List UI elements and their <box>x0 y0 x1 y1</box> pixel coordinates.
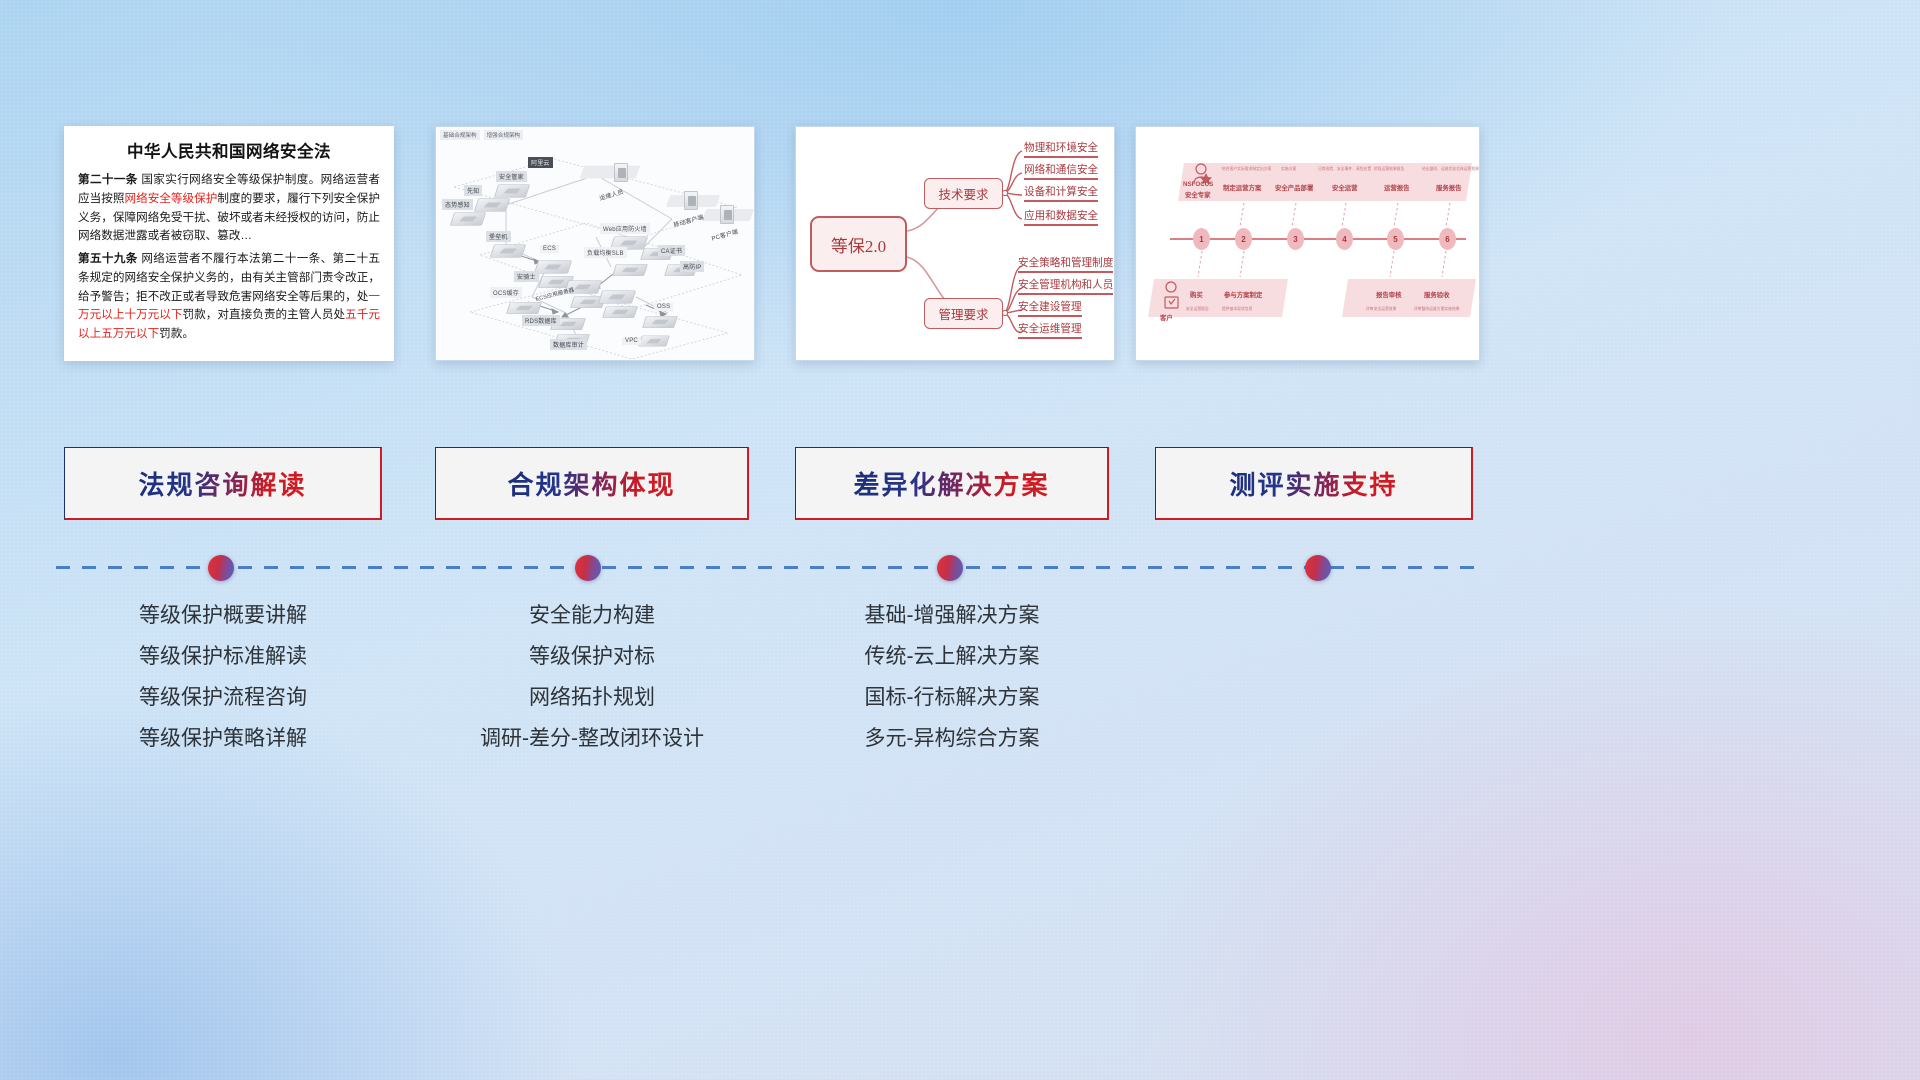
roadmap-top-title-2: 安全产品部署 <box>1275 183 1313 192</box>
architecture-diagram: 基础合规架构 增强合规架构 阿里云 安全管家 先知 态势感知 运维人员 移动客户… <box>436 127 754 360</box>
roadmap-top-sub-4: 阶段运营效果报告 <box>1374 167 1404 172</box>
roadmap-bottom-title-3: 报告审核 <box>1376 290 1402 299</box>
article-59-label: 第五十九条 <box>78 252 138 265</box>
roadmap-bottom-title-4: 服务验收 <box>1424 290 1450 299</box>
reference-cards-row: 中华人民共和国网络安全法 第二十一条 国家实行网络安全等级保护制度。网络运营者应… <box>0 126 1920 361</box>
list-item: 基础-增强解决方案 <box>790 605 1114 626</box>
section-items-column-3: 基础-增强解决方案 传统-云上解决方案 国标-行标解决方案 多元-异构综合方案 <box>790 605 1114 769</box>
roadmap-lines <box>1136 127 1480 361</box>
dengbao-mind-map: 等保2.0 技术要求 物理和环境安全 网络和通信安全 设备和计算安全 应用和数据… <box>796 127 1114 360</box>
section-title-box-4[interactable]: 测评实施支持 <box>1155 447 1473 520</box>
article-21-label: 第二十一条 <box>78 173 138 186</box>
node-pc-client <box>720 205 734 224</box>
mind-leaf-physical-env: 物理和环境安全 <box>1024 140 1098 158</box>
node-label-situational-awareness: 态势感知 <box>442 199 473 210</box>
node-situational-awareness <box>452 207 484 231</box>
node-label-ca-cert: CA证书 <box>658 245 685 256</box>
node-mobile-client <box>684 191 698 210</box>
section-items-column-2: 安全能力构建 等级保护对标 网络拓扑规划 调研-差分-整改闭环设计 <box>420 605 764 769</box>
roadmap-step-number-2: 2 <box>1235 228 1252 250</box>
node-label-aliyun: 阿里云 <box>528 157 553 168</box>
list-item: 等级保护流程咨询 <box>64 687 382 708</box>
mind-leaf-org-personnel: 安全管理机构和人员 <box>1018 277 1113 295</box>
node-bastion-host <box>492 239 524 263</box>
list-item: 等级保护标准解读 <box>64 646 382 667</box>
roadmap-step-number-4: 4 <box>1336 228 1353 250</box>
node-ops-staff <box>614 163 628 182</box>
law-card-title: 中华人民共和国网络安全法 <box>78 138 380 162</box>
node-label-slb: 负载均衡SLB <box>584 247 627 258</box>
cloud-architecture-card: 基础合规架构 增强合规架构 阿里云 安全管家 先知 态势感知 运维人员 移动客户… <box>435 126 755 361</box>
list-item: 等级保护策略详解 <box>64 728 382 749</box>
node-label-waf: Web应用防火墙 <box>600 223 650 234</box>
mind-leaf-ops-mgmt: 安全运维管理 <box>1018 321 1082 339</box>
node-slb <box>614 259 646 281</box>
section-title-label-4: 测评实施支持 <box>1229 465 1397 502</box>
article-21-highlight: 网络安全等级保护 <box>124 192 217 205</box>
timeline-dot-2[interactable] <box>575 555 601 581</box>
service-roadmap: NSFOCUS 安全专家 客户 结合客户实际需求制定出方案 制定运营方案 实施方… <box>1136 127 1479 360</box>
roadmap-top-title-5: 服务报告 <box>1436 183 1462 192</box>
law-article-21: 第二十一条 国家实行网络安全等级保护制度。网络运营者应当按照网络安全等级保护制度… <box>78 171 380 246</box>
mind-leaf-construction-mgmt: 安全建设管理 <box>1018 299 1082 317</box>
list-item: 网络拓扑规划 <box>420 687 764 708</box>
roadmap-top-sub-5: 给出整改、运维优化总体运营效果 <box>1422 167 1479 172</box>
roadmap-step-number-5: 5 <box>1387 228 1404 250</box>
arch-tab-basic[interactable]: 基础合规架构 <box>440 130 480 140</box>
article-59-text-b: 罚款，对直接负责的主管人员处 <box>183 308 346 321</box>
roadmap-top-actor-line2: 安全专家 <box>1185 190 1211 199</box>
roadmap-bottom-sub-4: 评审整改运维方案实施效果 <box>1414 307 1460 312</box>
section-titles-row: 法规咨询解读 合规架构体现 差异化解决方案 测评实施支持 <box>0 447 1920 520</box>
timeline-dot-4[interactable] <box>1305 555 1331 581</box>
node-label-anqishi: 安骑士 <box>514 271 539 282</box>
roadmap-top-actor-line1: NSFOCUS <box>1183 181 1213 188</box>
mind-map-card: 等保2.0 技术要求 物理和环境安全 网络和通信安全 设备和计算安全 应用和数据… <box>795 126 1115 361</box>
timeline-dot-3[interactable] <box>937 555 963 581</box>
mind-branch-technical: 技术要求 <box>924 178 1003 209</box>
mind-leaf-device-compute: 设备和计算安全 <box>1024 184 1098 202</box>
roadmap-top-title-1: 制定运营方案 <box>1223 183 1261 192</box>
roadmap-bottom-sub-3: 评审安全运营效果 <box>1366 307 1396 312</box>
list-item: 多元-异构综合方案 <box>790 728 1114 749</box>
list-item: 调研-差分-整改闭环设计 <box>420 728 764 749</box>
node-app-server-4 <box>604 301 636 323</box>
timeline-rail <box>56 566 1480 569</box>
roadmap-bottom-actor: 客户 <box>1160 313 1173 322</box>
node-oss <box>644 311 676 333</box>
roadmap-step-number-1: 1 <box>1193 228 1210 250</box>
mind-leaf-policy-system: 安全策略和管理制度 <box>1018 255 1113 273</box>
section-title-box-2[interactable]: 合规架构体现 <box>435 447 749 520</box>
roadmap-top-sub-2: 实施方案 <box>1281 167 1296 172</box>
roadmap-step-number-3: 3 <box>1287 228 1304 250</box>
node-label-vpc: VPC <box>622 337 641 345</box>
node-label-ecs: ECS <box>540 245 559 253</box>
roadmap-bottom-sub-2: 提供基本现状信息 <box>1222 307 1252 312</box>
architecture-connectors <box>436 127 755 361</box>
list-item: 国标-行标解决方案 <box>790 687 1114 708</box>
roadmap-top-sub-1: 结合客户实际需求制定出方案 <box>1222 167 1271 172</box>
mind-branch-management: 管理要求 <box>924 298 1003 329</box>
node-label-anti-ddos-ip: 高防IP <box>680 261 704 272</box>
mind-root-node: 等保2.0 <box>810 216 907 272</box>
node-label-xianzhi: 先知 <box>464 185 482 196</box>
node-label-security-steward: 安全管家 <box>496 171 527 182</box>
roadmap-bottom-title-2: 参与方案制定 <box>1224 290 1262 299</box>
list-item: 等级保护概要讲解 <box>64 605 382 626</box>
list-item: 等级保护对标 <box>420 646 764 667</box>
article-59-text-c: 罚款。 <box>159 327 194 340</box>
roadmap-top-title-3: 安全运营 <box>1332 183 1358 192</box>
list-item: 安全能力构建 <box>420 605 764 626</box>
section-title-label-1: 法规咨询解读 <box>138 465 306 502</box>
section-title-label-3: 差异化解决方案 <box>853 465 1049 502</box>
list-item: 传统-云上解决方案 <box>790 646 1114 667</box>
architecture-tabs[interactable]: 基础合规架构 增强合规架构 <box>440 130 523 140</box>
mind-leaf-network-comm: 网络和通信安全 <box>1024 162 1098 180</box>
timeline-dot-1[interactable] <box>208 555 234 581</box>
node-vpc <box>640 331 668 351</box>
roadmap-step-number-6: 6 <box>1439 228 1456 250</box>
section-items-column-1: 等级保护概要讲解 等级保护标准解读 等级保护流程咨询 等级保护策略详解 <box>64 605 382 769</box>
section-title-label-2: 合规架构体现 <box>507 465 675 502</box>
roadmap-top-title-4: 运营报告 <box>1384 183 1410 192</box>
roadmap-bottom-sub-1: 安全运营报告 <box>1186 307 1209 312</box>
law-article-59: 第五十九条 网络运营者不履行本法第二十一条、第二十五条规定的网络安全保护义务的，… <box>78 250 380 344</box>
section-title-box-1[interactable]: 法规咨询解读 <box>64 447 382 520</box>
service-roadmap-card: NSFOCUS 安全专家 客户 结合客户实际需求制定出方案 制定运营方案 实施方… <box>1135 126 1480 361</box>
node-label-ocs-cache: OCS缓存 <box>490 287 522 298</box>
node-label-db-audit: 数据库审计 <box>550 339 587 350</box>
roadmap-top-sub-3: 日常巡检、安全事件、高危处置 <box>1318 167 1371 172</box>
section-title-box-3[interactable]: 差异化解决方案 <box>795 447 1109 520</box>
mind-leaf-app-data: 应用和数据安全 <box>1024 208 1098 226</box>
node-label-oss: OSS <box>654 303 673 311</box>
node-label-rds-db: RDS数据库 <box>522 315 560 326</box>
roadmap-bottom-title-1: 购买 <box>1190 290 1203 299</box>
node-label-bastion-host: 堡垒机 <box>486 231 511 242</box>
plate-cloud <box>580 166 641 179</box>
law-text-card: 中华人民共和国网络安全法 第二十一条 国家实行网络安全等级保护制度。网络运营者应… <box>64 126 394 361</box>
arch-tab-enhanced[interactable]: 增强合规架构 <box>484 130 524 140</box>
